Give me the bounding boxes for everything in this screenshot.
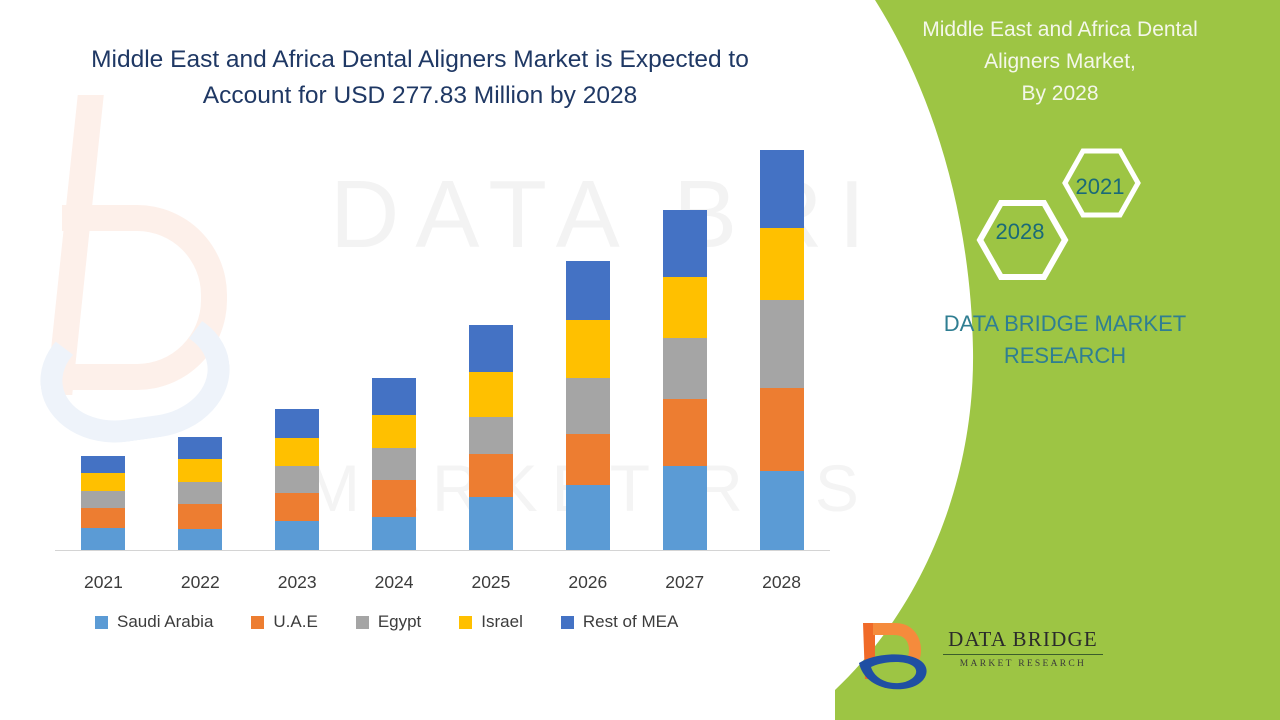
brand-name: DATA BRIDGE MARKET RESEARCH [880,308,1250,372]
panel-title-line-3: By 2028 [860,78,1260,110]
bar-segment[interactable] [178,459,222,481]
stacked-bar[interactable] [372,378,416,550]
legend-item-rest-of-mea[interactable]: Rest of MEA [561,612,678,632]
bar-segment[interactable] [566,434,610,485]
bar-segment[interactable] [760,300,804,387]
company-logo: DATA BRIDGE MARKET RESEARCH [855,613,1105,698]
legend-label: Saudi Arabia [117,612,213,632]
bar-segment[interactable] [566,261,610,320]
bar-segment[interactable] [275,409,319,438]
stacked-bar[interactable] [469,325,513,550]
page-title: Middle East and Africa Dental Aligners M… [60,42,780,114]
bar-segment[interactable] [178,482,222,504]
bar-segment[interactable] [663,210,707,277]
bar-group-2024 [347,150,442,550]
stacked-bar[interactable] [81,456,125,550]
bar-segment[interactable] [372,517,416,550]
bar-group-2026 [540,150,635,550]
brand-line-2: RESEARCH [880,340,1250,372]
bar-segment[interactable] [178,504,222,529]
bar-segment[interactable] [760,228,804,301]
x-tick-2025: 2025 [443,572,538,593]
branding-panel: Middle East and Africa Dental Aligners M… [835,0,1280,720]
bar-group-2025 [443,150,538,550]
panel-title: Middle East and Africa Dental Aligners M… [860,14,1260,110]
bar-segment[interactable] [372,480,416,517]
bar-segment[interactable] [469,497,513,550]
bar-segment[interactable] [760,471,804,550]
slide-canvas: DATA BRIDGE MARKET RESEARCH Middle East … [0,0,1280,720]
legend-swatch-icon [251,616,264,629]
bar-segment[interactable] [760,388,804,471]
bar-segment[interactable] [81,508,125,527]
bar-group-2023 [250,150,345,550]
legend-swatch-icon [95,616,108,629]
bar-segment[interactable] [178,437,222,459]
legend-swatch-icon [356,616,369,629]
chart-plot-area [55,150,830,560]
legend-label: Rest of MEA [583,612,678,632]
bar-group-2028 [734,150,829,550]
stacked-bar[interactable] [663,210,707,550]
bar-segment[interactable] [469,417,513,454]
bar-segment[interactable] [469,372,513,417]
stacked-bar[interactable] [178,437,222,550]
bar-segment[interactable] [663,399,707,466]
x-tick-2027: 2027 [637,572,732,593]
bar-segment[interactable] [275,466,319,494]
stacked-bar[interactable] [566,261,610,550]
hexagon-label-2021: 2021 [1060,174,1140,200]
legend-label: U.A.E [273,612,317,632]
legend-label: Egypt [378,612,421,632]
x-axis-tick-labels: 20212022202320242025202620272028 [55,572,830,593]
bar-segment[interactable] [469,454,513,497]
legend-swatch-icon [459,616,472,629]
brand-line-1: DATA BRIDGE MARKET [880,308,1250,340]
legend-item-egypt[interactable]: Egypt [356,612,421,632]
legend-item-u-a-e[interactable]: U.A.E [251,612,317,632]
panel-title-line-1: Middle East and Africa Dental [860,14,1260,46]
bar-segment[interactable] [469,325,513,372]
legend-label: Israel [481,612,523,632]
stacked-bar[interactable] [275,409,319,550]
bar-segment[interactable] [372,415,416,448]
bar-group-2021 [56,150,151,550]
bar-segment[interactable] [81,456,125,473]
bar-segment[interactable] [81,473,125,491]
panel-title-line-2: Aligners Market, [860,46,1260,78]
x-tick-2024: 2024 [347,572,442,593]
databridge-logo-icon [855,617,945,697]
logo-wordmark: DATA BRIDGE MARKET RESEARCH [943,627,1103,669]
x-tick-2028: 2028 [734,572,829,593]
legend-item-saudi-arabia[interactable]: Saudi Arabia [95,612,213,632]
bar-segment[interactable] [275,438,319,466]
bar-segment[interactable] [566,378,610,433]
hexagon-group: 2021 2028 [965,143,1165,283]
legend-item-israel[interactable]: Israel [459,612,523,632]
bar-segment[interactable] [372,448,416,480]
bar-segment[interactable] [81,528,125,550]
hexagon-label-2028: 2028 [975,219,1065,245]
legend-swatch-icon [561,616,574,629]
chart-legend: Saudi ArabiaU.A.EEgyptIsraelRest of MEA [95,612,795,632]
x-axis-line [55,550,830,551]
x-tick-2026: 2026 [540,572,635,593]
bar-segment[interactable] [566,485,610,550]
logo-sub-text: MARKET RESEARCH [943,659,1103,669]
x-tick-2021: 2021 [56,572,151,593]
bar-segment[interactable] [178,529,222,550]
bar-segment[interactable] [566,320,610,379]
bar-segment[interactable] [663,338,707,399]
bar-segment[interactable] [663,466,707,550]
bar-segment[interactable] [760,150,804,228]
bar-segment[interactable] [372,378,416,414]
bar-group-2027 [637,150,732,550]
stacked-bar[interactable] [760,150,804,550]
bar-segment[interactable] [663,277,707,338]
x-tick-2023: 2023 [250,572,345,593]
bar-segment[interactable] [81,491,125,508]
bar-segment[interactable] [275,521,319,550]
bar-segment[interactable] [275,493,319,521]
chart-bars [55,150,830,550]
x-tick-2022: 2022 [153,572,248,593]
logo-main-text: DATA BRIDGE [943,627,1103,655]
stacked-bar-chart [55,150,830,570]
bar-group-2022 [153,150,248,550]
hexagon-outlines-icon [965,143,1165,288]
